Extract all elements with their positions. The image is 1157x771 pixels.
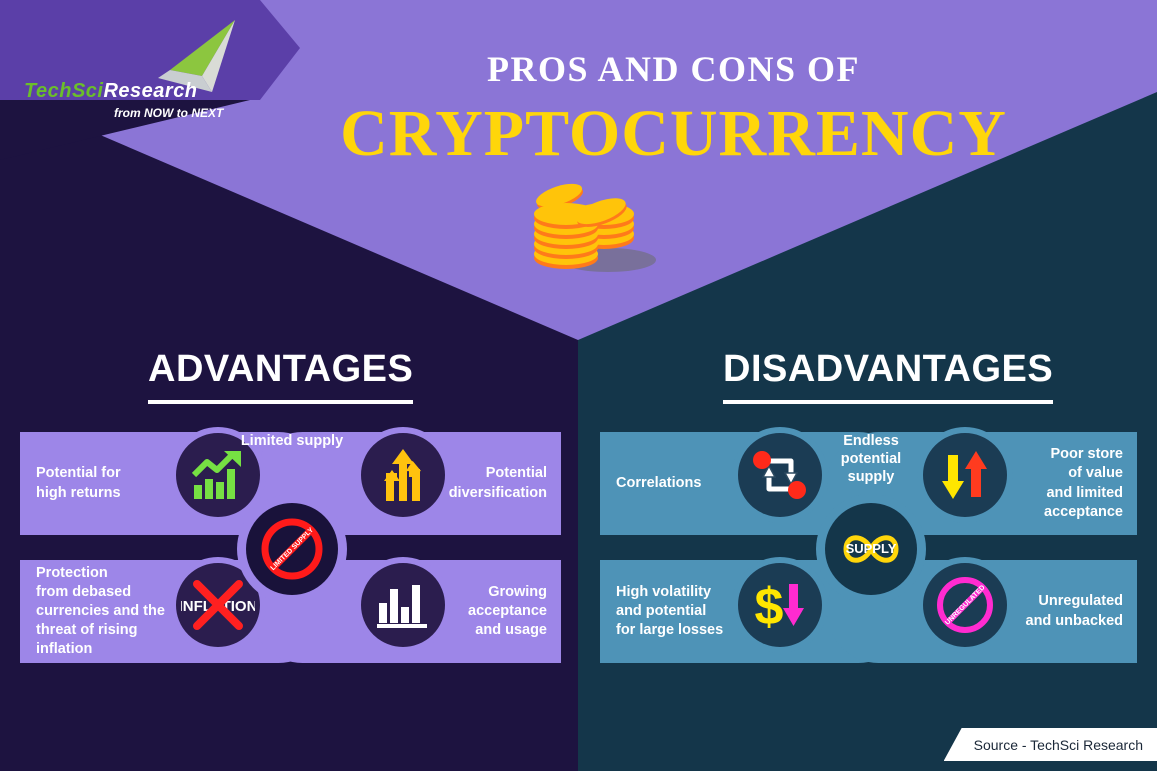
endless-supply-caption: Endlesspotentialsupply <box>801 432 941 486</box>
disadvantages-heading-text: DISADVANTAGES <box>723 348 1053 390</box>
advantage-label: Potential forhigh returns <box>20 464 190 502</box>
disadvantages-underline <box>723 400 1053 404</box>
three-branching-arrows-icon <box>378 449 428 501</box>
dollar-down-arrow-icon: $ <box>751 578 809 632</box>
dollar-sign-glyph: $ <box>755 578 784 632</box>
source-text: Source - TechSci Research <box>974 737 1143 753</box>
supply-icon-text: SUPPLY <box>846 541 897 556</box>
dollar-down-arrow-icon-container: $ <box>732 557 828 653</box>
page-title: CRYPTOCURRENCY <box>0 96 1157 172</box>
infographic-canvas: TechSciResearch from NOW to NEXT PROS AN… <box>0 0 1157 771</box>
advantages-underline <box>148 400 413 404</box>
three-branching-arrows-icon-container <box>355 427 451 523</box>
source-banner: Source - TechSci Research <box>944 728 1157 761</box>
prohibition-unregulated-icon: UNREGULATED <box>933 573 997 637</box>
bar-chart-icon-container <box>355 557 451 653</box>
prohibition-unregulated-icon-container: UNREGULATED <box>917 557 1013 653</box>
center-ring-inner: SUPPLY <box>825 503 917 595</box>
center-ring-inner: LIMITED SUPPLY <box>246 503 338 595</box>
advantages-heading-text: ADVANTAGES <box>148 348 413 390</box>
prohibition-limited-supply-icon: LIMITED SUPPLY <box>258 515 326 583</box>
bar-chart-icon <box>377 581 429 629</box>
unregulated-icon-text: UNREGULATED <box>944 584 987 627</box>
advantage-label: Protectionfrom debasedcurrencies and the… <box>20 564 190 660</box>
limited-supply-caption: Limited supply <box>222 432 362 450</box>
coin-stack-icon <box>516 168 656 278</box>
up-down-arrows-icon <box>941 449 989 501</box>
infinity-supply-icon: SUPPLY <box>834 528 908 570</box>
disadvantages-heading: DISADVANTAGES <box>723 348 1053 412</box>
advantages-center-node: Limited supply LIMITED SUPPLY <box>237 494 347 604</box>
limited-supply-icon-text: LIMITED SUPPLY <box>270 526 316 572</box>
advantages-heading: ADVANTAGES <box>148 348 413 412</box>
disadvantages-center-node: Endlesspotentialsupply SUPPLY <box>816 494 926 604</box>
header-kicker: PROS AND CONS OF <box>0 48 1157 90</box>
